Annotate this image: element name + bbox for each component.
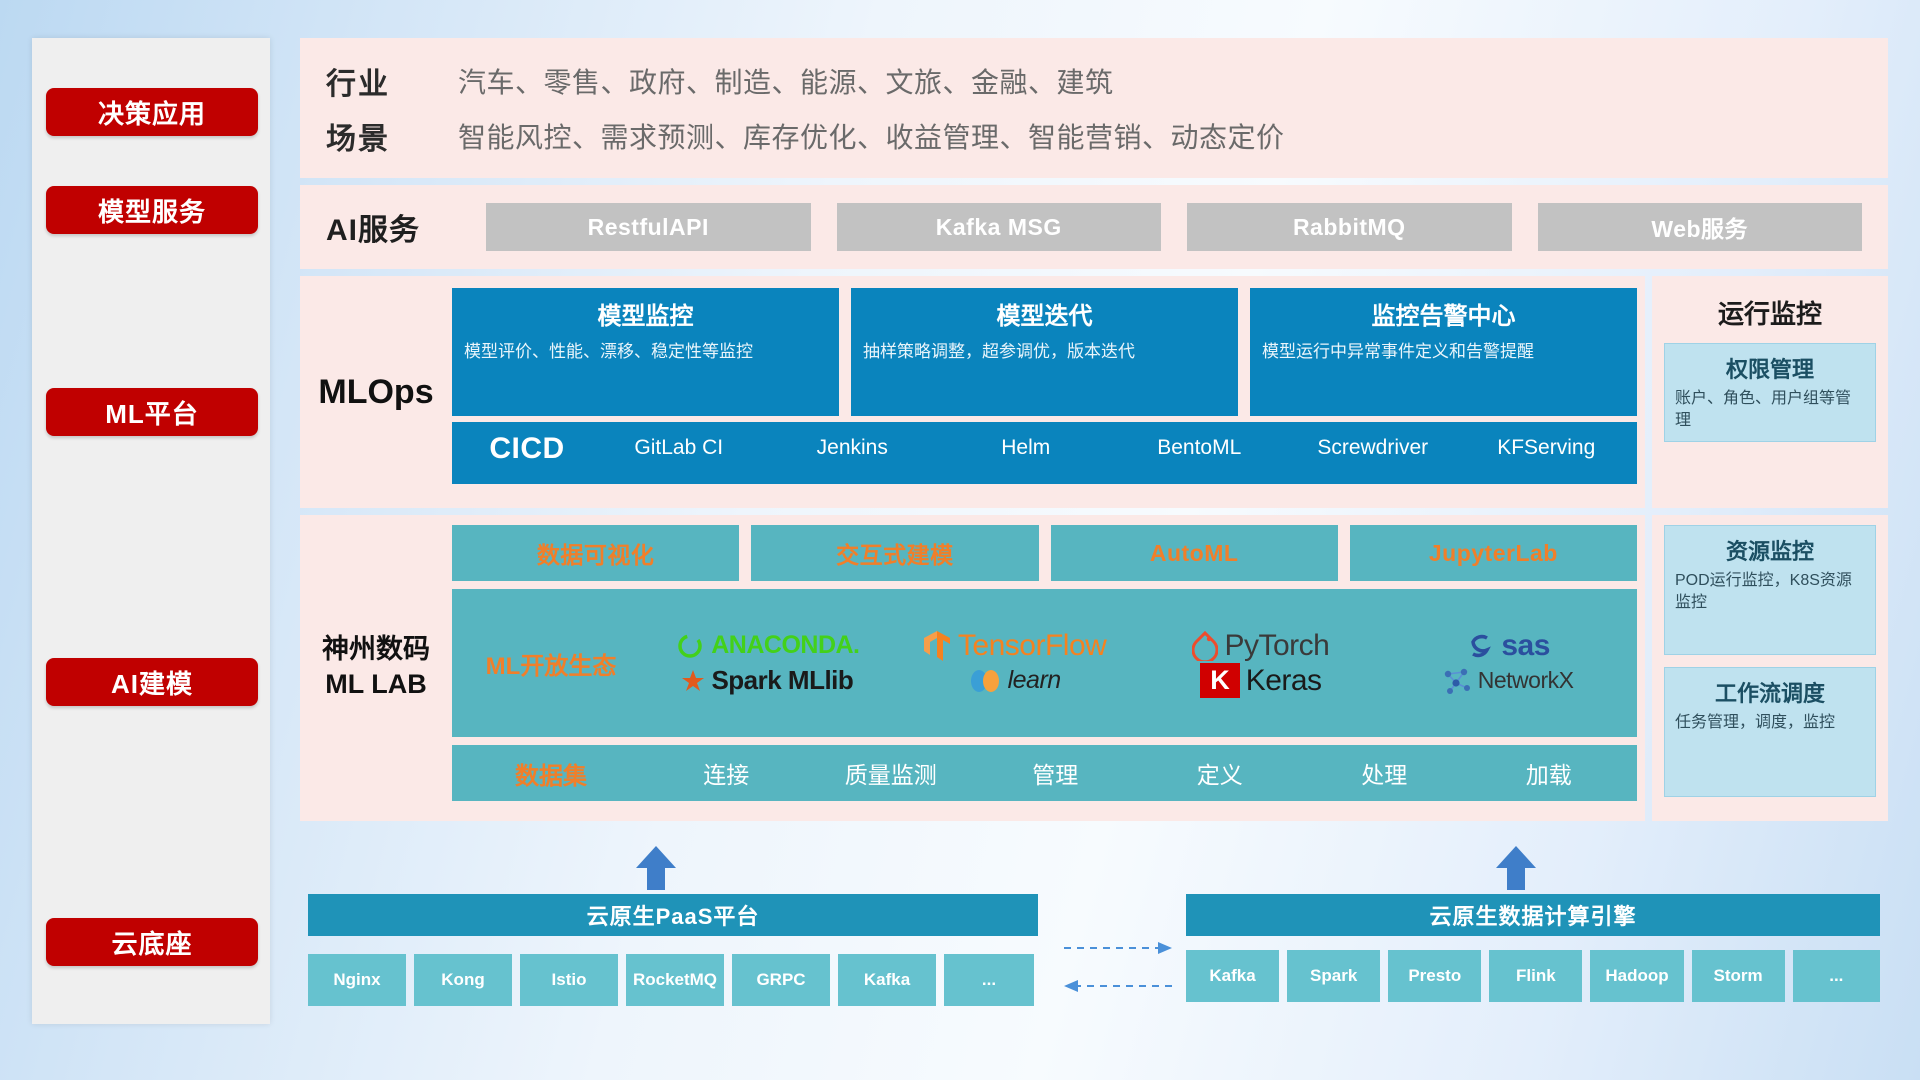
rail-item-decision-app[interactable]: 决策应用 — [46, 88, 258, 136]
chip-rocketmq[interactable]: RocketMQ — [626, 954, 724, 1006]
card-title: 资源监控 — [1675, 534, 1865, 566]
chip-more-right[interactable]: ... — [1793, 950, 1880, 1002]
ml-ecosystem-strip: ML开放生态 ANACONDA. — [452, 589, 1637, 737]
tensorflow-glyph — [922, 629, 952, 663]
cicd-strip: CICD GitLab CI Jenkins Helm BentoML Scre… — [452, 422, 1637, 484]
chip-kafka[interactable]: Kafka — [838, 954, 936, 1006]
card-desc: 任务管理，调度，监控 — [1675, 712, 1865, 734]
chip-kafka-right[interactable]: Kafka — [1186, 950, 1279, 1002]
networkx-glyph — [1442, 667, 1472, 695]
ai-service-chip-rabbitmq[interactable]: RabbitMQ — [1187, 203, 1512, 251]
card-desc: 模型运行中异常事件定义和告警提醒 — [1262, 341, 1625, 364]
sas-glyph — [1465, 631, 1495, 661]
industry-row: 行业 汽车、零售、政府、制造、能源、文旅、金融、建筑 — [326, 53, 1888, 108]
cicd-item-screwdriver[interactable]: Screwdriver — [1286, 432, 1460, 461]
arrow-up-left-head — [636, 846, 676, 868]
dashed-connectors — [1062, 908, 1174, 1018]
card-title: 工作流调度 — [1675, 676, 1865, 708]
rail-item-ml-platform[interactable]: ML平台 — [46, 388, 258, 436]
anaconda-glyph — [675, 631, 705, 661]
arrow-up-right-stem — [1507, 868, 1525, 890]
ml-ecosystem-label: ML开放生态 — [458, 646, 644, 681]
scikit-learn-glyph — [968, 666, 1002, 696]
mlops-card-model-monitoring[interactable]: 模型监控 模型评价、性能、漂移、稳定性等监控 — [452, 288, 839, 416]
card-title: 模型监控 — [464, 296, 827, 331]
scikit-learn-logo: learn — [968, 666, 1061, 696]
dataset-item-define[interactable]: 定义 — [1138, 756, 1303, 790]
left-rail: 决策应用 模型服务 ML平台 AI建模 云底座 — [32, 38, 270, 1024]
ai-service-chip-web[interactable]: Web服务 — [1538, 203, 1863, 251]
rail-item-label: ML平台 — [105, 394, 199, 431]
chip-storm[interactable]: Storm — [1692, 950, 1785, 1002]
tool-automl[interactable]: AutoML — [1051, 525, 1338, 581]
monitor-panel-top: 运行监控 权限管理 账户、角色、用户组等管理 — [1652, 276, 1888, 508]
ml-lab-band: 神州数码 ML LAB 数据可视化 交互式建模 AutoML JupyterLa… — [300, 515, 1645, 821]
mlops-label: MLOps — [300, 288, 452, 496]
rail-item-model-service[interactable]: 模型服务 — [46, 186, 258, 234]
mlops-band: MLOps 模型监控 模型评价、性能、漂移、稳定性等监控 模型迭代 抽样策略调整… — [300, 276, 1645, 508]
tensorflow-logo: TensorFlow — [922, 629, 1106, 663]
chip-spark[interactable]: Spark — [1287, 950, 1380, 1002]
tool-interactive-modeling[interactable]: 交互式建模 — [751, 525, 1038, 581]
rail-item-ai-modeling[interactable]: AI建模 — [46, 658, 258, 706]
keras-label: Keras — [1246, 664, 1322, 698]
dataset-label: 数据集 — [458, 756, 644, 791]
pytorch-glyph — [1192, 631, 1218, 661]
arrow-up-left-stem — [647, 868, 665, 890]
spark-mllib-label: Spark MLlib — [711, 665, 853, 696]
cloud-bar-paas[interactable]: 云原生PaaS平台 — [308, 894, 1038, 936]
ml-lab-content: 数据可视化 交互式建模 AutoML JupyterLab ML开放生态 — [452, 525, 1637, 809]
cicd-item-helm[interactable]: Helm — [939, 432, 1113, 461]
tool-jupyterlab[interactable]: JupyterLab — [1350, 525, 1637, 581]
card-desc: 模型评价、性能、漂移、稳定性等监控 — [464, 341, 827, 364]
mlops-card-model-iteration[interactable]: 模型迭代 抽样策略调整，超参调优，版本迭代 — [851, 288, 1238, 416]
keras-k-badge: K — [1200, 663, 1240, 698]
dataset-strip: 数据集 连接 质量监测 管理 定义 处理 加载 — [452, 745, 1637, 801]
ml-lab-row: 神州数码 ML LAB 数据可视化 交互式建模 AutoML JupyterLa… — [300, 515, 1888, 821]
dataset-item-load[interactable]: 加载 — [1467, 756, 1632, 790]
sas-logo: sas — [1465, 629, 1550, 663]
spark-mllib-logo: Spark MLlib — [681, 665, 853, 696]
scenario-row: 场景 智能风控、需求预测、库存优化、收益管理、智能营销、动态定价 — [326, 108, 1888, 163]
mlops-card-alert-center[interactable]: 监控告警中心 模型运行中异常事件定义和告警提醒 — [1250, 288, 1637, 416]
arrow-up-right-head — [1496, 846, 1536, 868]
ml-lab-label: 神州数码 ML LAB — [300, 525, 452, 809]
tensorflow-label: TensorFlow — [958, 629, 1106, 663]
anaconda-logo: ANACONDA. — [675, 631, 859, 661]
ai-service-band: AI服务 RestfulAPI Kafka MSG RabbitMQ Web服务 — [300, 185, 1888, 269]
rail-item-label: 模型服务 — [98, 192, 206, 229]
card-desc: 账户、角色、用户组等管理 — [1675, 388, 1865, 431]
main-column: 行业 汽车、零售、政府、制造、能源、文旅、金融、建筑 场景 智能风控、需求预测、… — [300, 38, 1888, 821]
chip-flink[interactable]: Flink — [1489, 950, 1582, 1002]
chip-more-left[interactable]: ... — [944, 954, 1034, 1006]
chip-istio[interactable]: Istio — [520, 954, 618, 1006]
chip-kong[interactable]: Kong — [414, 954, 512, 1006]
cicd-item-bentoml[interactable]: BentoML — [1113, 432, 1287, 461]
networkx-logo: NetworkX — [1442, 667, 1574, 695]
architecture-diagram: 决策应用 模型服务 ML平台 AI建模 云底座 行业 汽车、零售、政府、制造、能… — [0, 0, 1920, 1080]
sas-label: sas — [1501, 629, 1550, 663]
cicd-item-jenkins[interactable]: Jenkins — [766, 432, 940, 461]
monitor-card-workflow[interactable]: 工作流调度 任务管理，调度，监控 — [1664, 667, 1876, 797]
cloud-bar-data-engine[interactable]: 云原生数据计算引擎 — [1186, 894, 1880, 936]
ai-service-label: AI服务 — [326, 205, 486, 249]
dataset-item-process[interactable]: 处理 — [1302, 756, 1467, 790]
ai-service-chip-kafka-msg[interactable]: Kafka MSG — [837, 203, 1162, 251]
networkx-label: NetworkX — [1478, 667, 1574, 694]
cicd-item-gitlab-ci[interactable]: GitLab CI — [592, 432, 766, 461]
monitor-card-permission[interactable]: 权限管理 账户、角色、用户组等管理 — [1664, 343, 1876, 442]
monitor-panel-title: 运行监控 — [1664, 286, 1876, 343]
anaconda-label: ANACONDA. — [711, 631, 859, 660]
industry-key: 行业 — [326, 59, 458, 103]
ml-lab-label-line2: ML LAB — [325, 667, 427, 702]
paas-chip-row: Nginx Kong Istio RocketMQ GRPC Kafka ... — [308, 954, 1038, 1006]
card-desc: POD运行监控，K8S资源监控 — [1675, 570, 1865, 613]
cloud-base-section: 云原生PaaS平台 Nginx Kong Istio RocketMQ GRPC… — [300, 888, 1888, 1028]
pytorch-logo: PyTorch — [1192, 629, 1329, 663]
industry-scenario-band: 行业 汽车、零售、政府、制造、能源、文旅、金融、建筑 场景 智能风控、需求预测、… — [300, 38, 1888, 178]
card-title: 权限管理 — [1675, 352, 1865, 384]
ai-service-items: RestfulAPI Kafka MSG RabbitMQ Web服务 — [486, 203, 1862, 251]
rail-item-label: 云底座 — [111, 924, 192, 961]
ml-lab-label-line1: 神州数码 — [322, 632, 430, 667]
chip-grpc[interactable]: GRPC — [732, 954, 830, 1006]
tool-data-visualization[interactable]: 数据可视化 — [452, 525, 739, 581]
card-title: 监控告警中心 — [1262, 296, 1625, 331]
spark-star-glyph — [681, 669, 705, 693]
ai-service-chip-restfulapi[interactable]: RestfulAPI — [486, 203, 811, 251]
mlops-content: 模型监控 模型评价、性能、漂移、稳定性等监控 模型迭代 抽样策略调整，超参调优，… — [452, 288, 1645, 496]
chip-nginx[interactable]: Nginx — [308, 954, 406, 1006]
monitor-card-resource[interactable]: 资源监控 POD运行监控，K8S资源监控 — [1664, 525, 1876, 655]
dataset-item-quality[interactable]: 质量监测 — [809, 756, 974, 790]
chip-hadoop[interactable]: Hadoop — [1590, 950, 1683, 1002]
scikit-learn-label: learn — [1008, 666, 1061, 695]
rail-item-cloud-base[interactable]: 云底座 — [46, 918, 258, 966]
rail-item-label: 决策应用 — [98, 94, 206, 131]
keras-logo: K Keras — [1200, 663, 1321, 698]
chip-presto[interactable]: Presto — [1388, 950, 1481, 1002]
cicd-label: CICD — [462, 432, 592, 466]
cicd-item-kfserving[interactable]: KFServing — [1460, 432, 1634, 461]
ml-lab-tools: 数据可视化 交互式建模 AutoML JupyterLab — [452, 525, 1637, 581]
engine-chip-row: Kafka Spark Presto Flink Hadoop Storm ..… — [1186, 950, 1880, 1002]
scenario-value: 智能风控、需求预测、库存优化、收益管理、智能营销、动态定价 — [458, 116, 1285, 156]
scenario-key: 场景 — [326, 114, 458, 158]
dataset-item-connect[interactable]: 连接 — [644, 756, 809, 790]
monitor-panel-bottom: 资源监控 POD运行监控，K8S资源监控 工作流调度 任务管理，调度，监控 — [1652, 515, 1888, 821]
card-desc: 抽样策略调整，超参调优，版本迭代 — [863, 341, 1226, 364]
card-title: 模型迭代 — [863, 296, 1226, 331]
ml-ecosystem-logos: ANACONDA. TensorFlow — [644, 628, 1631, 698]
mlops-row: MLOps 模型监控 模型评价、性能、漂移、稳定性等监控 模型迭代 抽样策略调整… — [300, 276, 1888, 508]
pytorch-label: PyTorch — [1224, 629, 1329, 663]
dataset-item-manage[interactable]: 管理 — [973, 756, 1138, 790]
industry-value: 汽车、零售、政府、制造、能源、文旅、金融、建筑 — [458, 61, 1114, 101]
rail-item-label: AI建模 — [111, 664, 193, 701]
mlops-cards: 模型监控 模型评价、性能、漂移、稳定性等监控 模型迭代 抽样策略调整，超参调优，… — [452, 288, 1637, 416]
